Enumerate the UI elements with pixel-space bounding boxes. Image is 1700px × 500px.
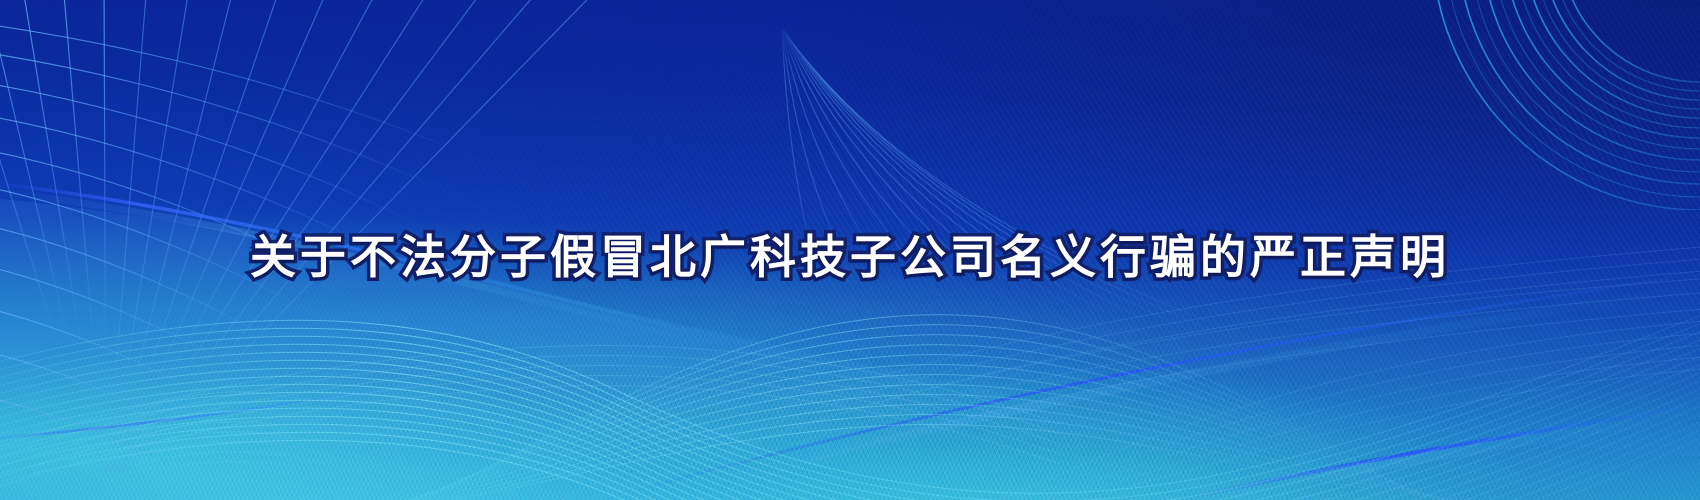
banner-title-container: 关于不法分子假冒北广科技子公司名义行骗的严正声明 (0, 214, 1700, 300)
banner: 关于不法分子假冒北广科技子公司名义行骗的严正声明 (0, 0, 1700, 500)
page-title: 关于不法分子假冒北广科技子公司名义行骗的严正声明 (250, 234, 1450, 280)
